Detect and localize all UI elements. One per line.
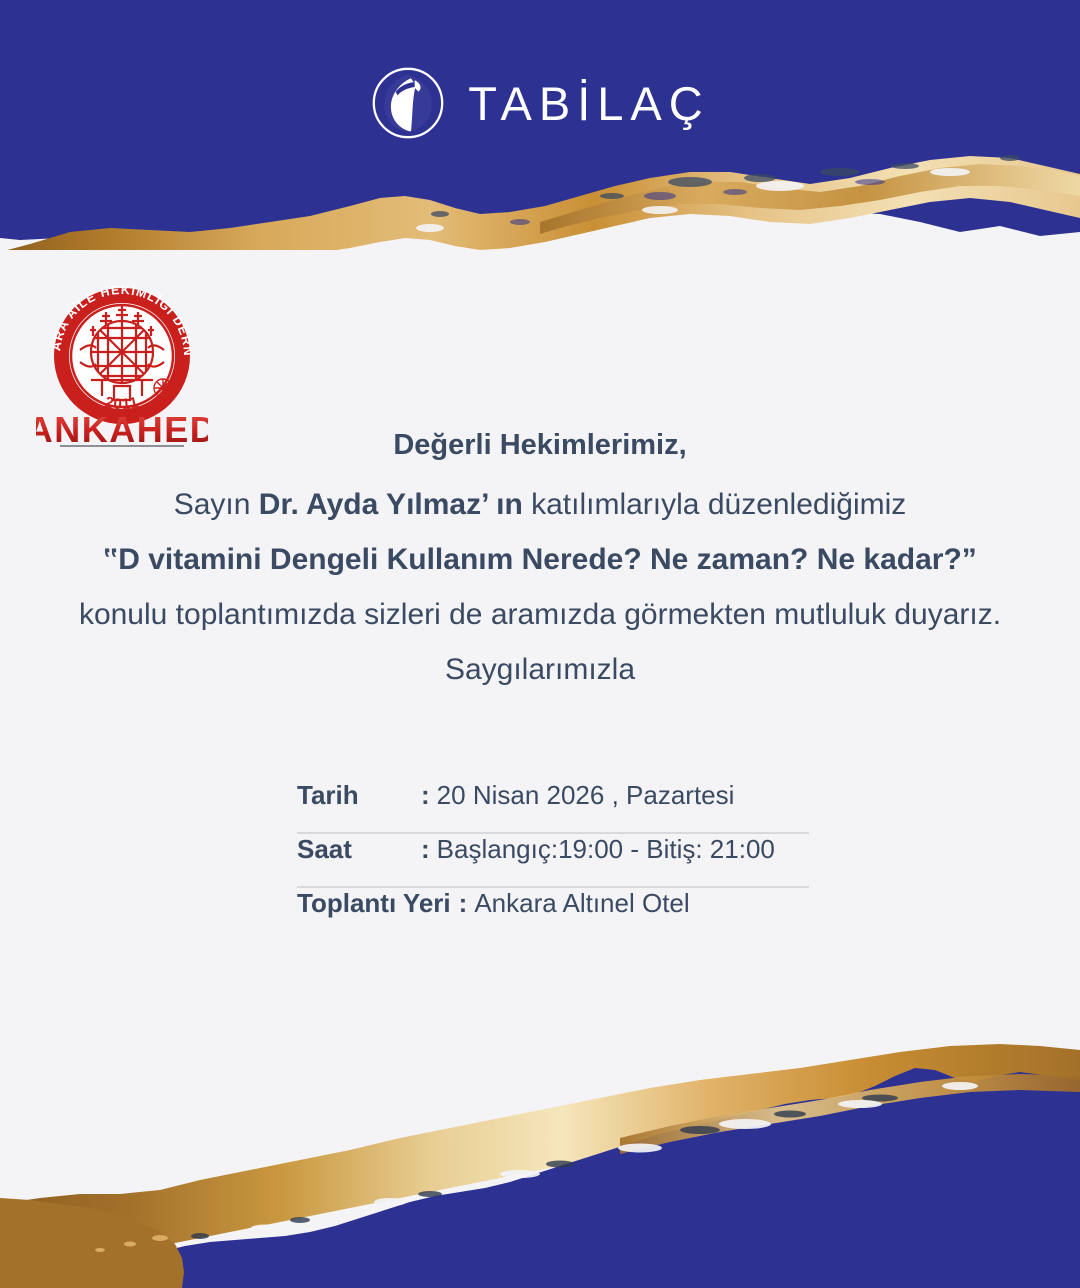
invitation-body: Değerli Hekimlerimiz, Sayın Dr. Ayda Yıl… — [40, 425, 1040, 692]
detail-row-date: Tarih : 20 Nisan 2026 , Pazartesi — [297, 780, 809, 834]
topic-line: ‟D vitamini Dengeli Kullanım Nerede? Ne … — [40, 538, 1040, 581]
detail-colon-time: : — [421, 834, 437, 865]
detail-value-date: 20 Nisan 2026 , Pazartesi — [437, 780, 735, 811]
detail-label-time: Saat — [297, 834, 421, 865]
topic-close-quote: ” — [962, 543, 977, 576]
speaker-line: Sayın Dr. Ayda Yılmaz’ ın katılımlarıyla… — [40, 483, 1040, 526]
brand-name: TABİLAÇ — [468, 80, 709, 127]
invitation-line: konulu toplantımızda sizleri de aramızda… — [40, 593, 1040, 636]
detail-row-time: Saat : Başlangıç:19:00 - Bitiş: 21:00 — [297, 834, 809, 888]
topic-title: D vitamini Dengeli Kullanım Nerede? Ne z… — [118, 543, 962, 576]
ankahed-wordmark: ANKAHED — [36, 409, 208, 448]
brand-logo: TABİLAÇ — [0, 58, 1080, 148]
detail-label-venue: Toplantı Yeri — [297, 888, 459, 919]
detail-row-venue: Toplantı Yeri : Ankara Altınel Otel — [297, 888, 809, 940]
speaker-line-pre: Sayın — [174, 488, 259, 521]
speaker-name: Dr. Ayda Yılmaz’ ın — [259, 488, 523, 521]
invitation-poster: TABİLAÇ ANKARA AİLE HEKİMLİĞİ DERN — [0, 0, 1080, 1288]
detail-colon-date: : — [421, 780, 437, 811]
tabilac-circle-leaf-icon — [370, 65, 446, 141]
speaker-line-post: katılımlarıyla düzenlediğimiz — [523, 488, 906, 521]
event-details-table: Tarih : 20 Nisan 2026 , Pazartesi Saat :… — [297, 780, 809, 940]
detail-colon-venue: : — [459, 888, 475, 919]
detail-value-venue: Ankara Altınel Otel — [474, 888, 689, 919]
detail-value-time: Başlangıç:19:00 - Bitiş: 21:00 — [437, 834, 775, 865]
closing-line: Saygılarımızla — [40, 648, 1040, 691]
bottom-decorative-band — [0, 988, 1080, 1288]
topic-open-quote: ‟ — [103, 543, 118, 576]
ankahed-logo: ANKARA AİLE HEKİMLİĞİ DERNEĞİ 2011 — [36, 266, 208, 448]
detail-label-date: Tarih — [297, 780, 421, 811]
